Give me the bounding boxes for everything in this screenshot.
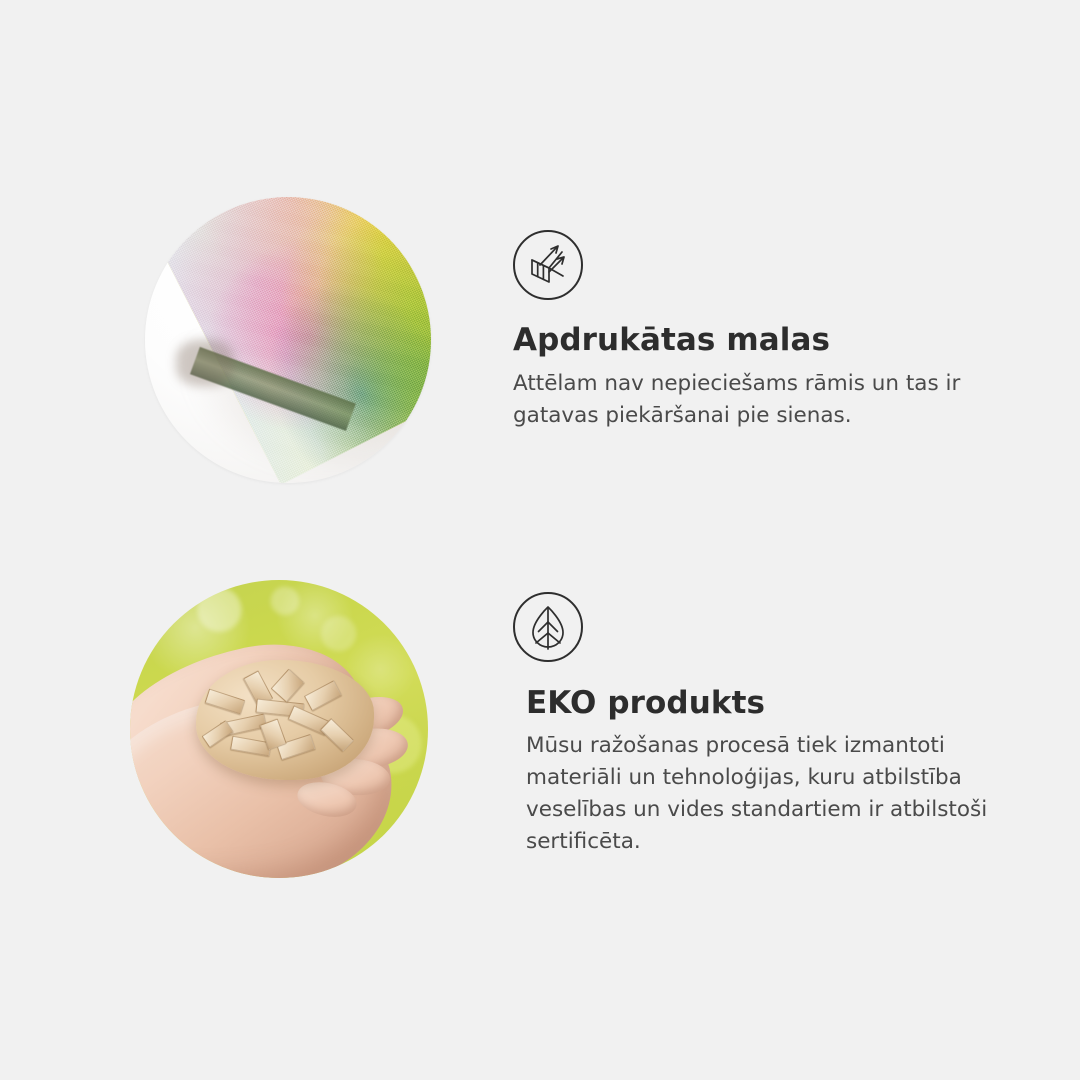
- leaf-icon: [513, 592, 583, 662]
- feature-description-eco-product: Mūsu ražošanas procesā tiek izmantoti ma…: [526, 730, 1046, 858]
- feature-description-printed-edges: Attēlam nav nepieciešams rāmis un tas ir…: [513, 368, 1033, 432]
- canvas-weave-texture: [145, 197, 431, 483]
- canvas-printed-face: [145, 197, 431, 483]
- canvas-corner-shadow: [176, 340, 233, 386]
- feature-page: Apdrukātas malas Attēlam nav nepieciešam…: [0, 0, 1080, 1080]
- wood-chips-pile: [196, 660, 375, 779]
- printed-edges-icon: [513, 230, 583, 300]
- canvas-print-corner-photo: [145, 183, 431, 505]
- feature-title-printed-edges: Apdrukātas malas: [513, 322, 830, 358]
- hands-with-wood-chips-photo: [130, 580, 428, 878]
- feature-title-eco-product: EKO produkts: [526, 685, 765, 721]
- canvas-photo-clip: [145, 197, 431, 483]
